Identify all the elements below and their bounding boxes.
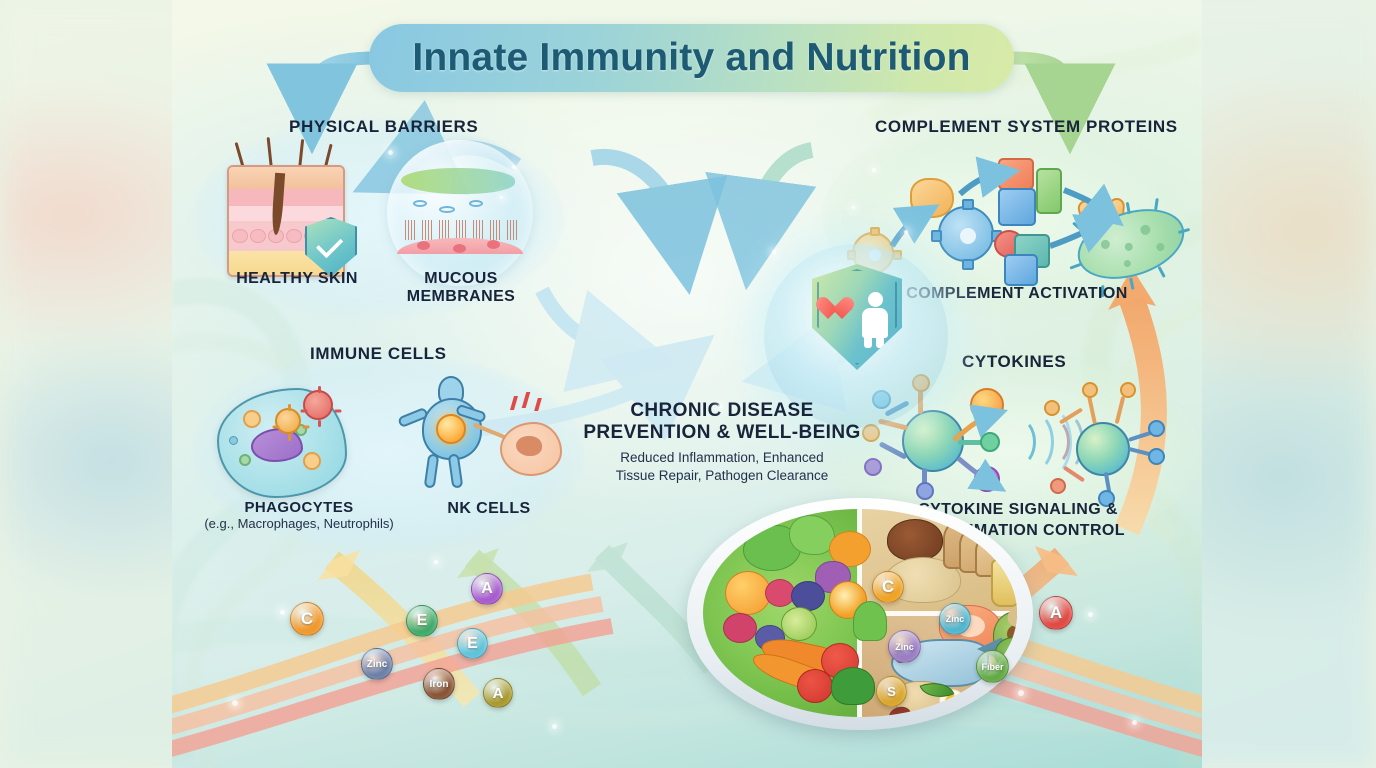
- nk-cell-icon: [400, 378, 570, 503]
- caption-phagocytes-sub: (e.g., Macrophages, Neutrophils): [194, 517, 404, 532]
- vitamin-a-badge-right: A: [1039, 596, 1073, 630]
- zinc-badge: Zinc: [361, 648, 393, 680]
- person-icon-head: [868, 292, 883, 307]
- core-subtext: Reduced Inflammation, Enhanced Tissue Re…: [572, 449, 872, 484]
- core-headline-line2: PREVENTION & WELL-BEING: [583, 422, 860, 443]
- zinc-badge-right: Zinc: [939, 603, 971, 635]
- arrow-title-to-complement: [1010, 58, 1070, 105]
- vitamin-c-badge: C: [290, 602, 324, 636]
- skin-layers-icon: [227, 165, 367, 285]
- caption-nk-cells: NK CELLS: [414, 500, 564, 518]
- person-icon-leg-left: [864, 332, 872, 348]
- section-label-complement: COMPLEMENT SYSTEM PROTEINS: [875, 117, 1178, 137]
- iron-badge: Iron: [423, 668, 455, 700]
- page-title-text: Innate Immunity and Nutrition: [412, 36, 970, 80]
- selenium-badge: S: [876, 676, 907, 707]
- core-subtext-line1: Reduced Inflammation, Enhanced: [620, 450, 823, 465]
- section-label-cytokines: CYTOKINES: [962, 352, 1066, 372]
- vitamin-e-badge: E: [406, 605, 438, 637]
- fiber-badge: Fiber: [976, 650, 1009, 683]
- heart-icon: [828, 298, 854, 322]
- section-label-immune-cells: IMMUNE CELLS: [310, 344, 447, 364]
- caption-healthy-skin: HEALTHY SKIN: [202, 270, 392, 288]
- pathogen-icon: [303, 390, 333, 420]
- caption-phagocytes: PHAGOCYTES (e.g., Macrophages, Neutrophi…: [194, 500, 404, 531]
- zinc-badge-right-2: Zinc: [888, 630, 921, 663]
- arrow-barriers-to-core: [592, 157, 680, 235]
- arrow-complement-to-core: [754, 150, 812, 230]
- section-label-physical-barriers: PHYSICAL BARRIERS: [289, 117, 478, 137]
- page-title: Innate Immunity and Nutrition: [369, 24, 1014, 92]
- core-headline: CHRONIC DISEASE PREVENTION & WELL-BEING: [572, 400, 872, 445]
- caption-phagocytes-title: PHAGOCYTES: [244, 499, 353, 516]
- core-subtext-line2: Tissue Repair, Pathogen Clearance: [616, 468, 829, 483]
- arrow-title-to-physical-barriers: [312, 58, 377, 105]
- pathogen-icon-2: [275, 408, 301, 434]
- person-icon-leg-right: [876, 332, 884, 348]
- mucous-membrane-icon: [387, 140, 533, 286]
- vitamin-e-badge-2: E: [457, 628, 488, 659]
- olive-oil-bottle: [991, 559, 1017, 607]
- vitamin-c-badge-right: C: [872, 571, 904, 603]
- cytokine-hub-right: [1076, 422, 1130, 476]
- core-headline-line1: CHRONIC DISEASE: [630, 400, 813, 421]
- balanced-meal-plate-icon: [687, 498, 1033, 730]
- vitamin-a-badge: A: [471, 573, 503, 605]
- caption-mucous-membranes: MUCOUS MEMBRANES: [368, 270, 554, 306]
- infographic-panel: Innate Immunity and Nutrition PHYSICAL B…: [172, 0, 1202, 768]
- phagocyte-icon: [217, 380, 387, 500]
- vitamin-a-badge-2: A: [483, 678, 513, 708]
- arrow-barriers-to-immune: [542, 290, 622, 352]
